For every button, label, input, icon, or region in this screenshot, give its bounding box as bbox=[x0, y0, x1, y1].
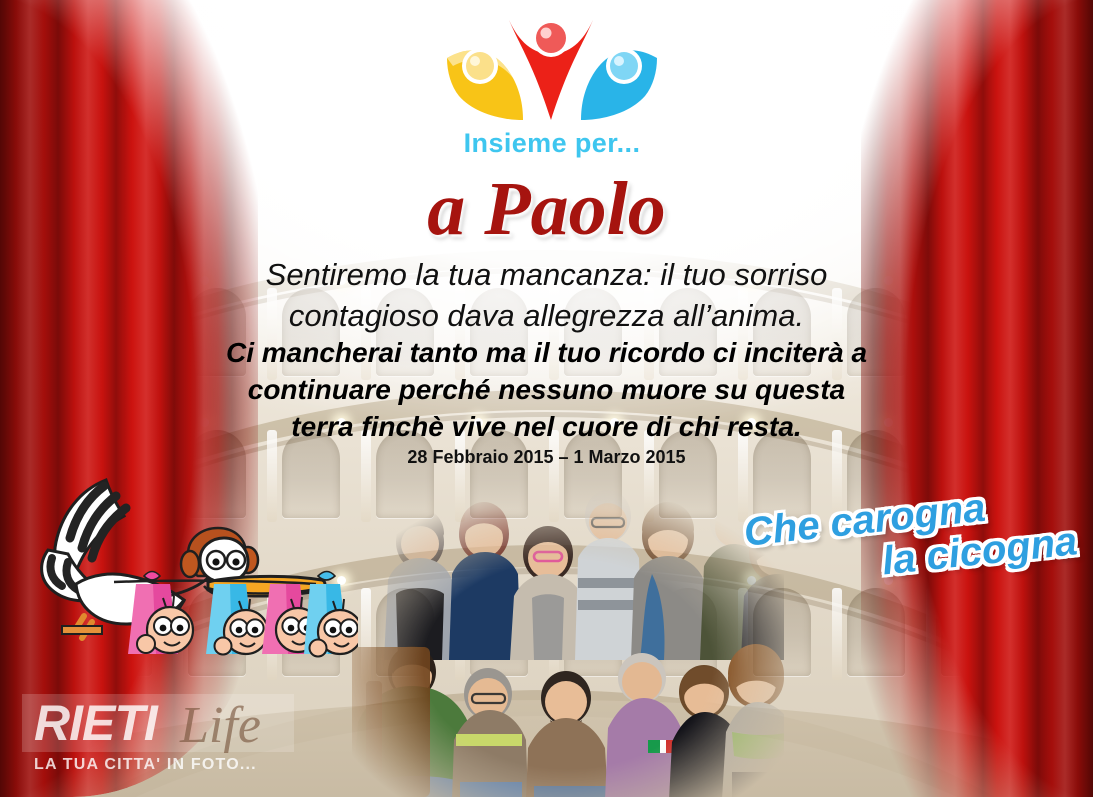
logo-figures-icon bbox=[437, 8, 667, 126]
subtitle-block: Sentiremo la tua mancanza: il tuo sorris… bbox=[0, 255, 1093, 337]
logo-wordmark: Insieme per... bbox=[432, 128, 672, 159]
message-line-3: terra finchè vive nel cuore di chi resta… bbox=[0, 408, 1093, 445]
date-range: 28 Febbraio 2015 – 1 Marzo 2015 bbox=[0, 447, 1093, 468]
poster-canvas: Insieme per... a Paolo Sentiremo la tua … bbox=[0, 0, 1093, 797]
watermark-brand-primary: RIETI bbox=[34, 694, 157, 752]
stork-illustration-icon bbox=[18, 476, 358, 676]
message-line-1: Ci mancherai tanto ma il tuo ricordo ci … bbox=[0, 334, 1093, 371]
figure-center-head bbox=[536, 23, 566, 53]
sling-4-bow bbox=[318, 572, 335, 581]
cap-ear-flap bbox=[181, 551, 199, 577]
figure-left-head bbox=[466, 52, 494, 80]
baby-1-hand bbox=[137, 635, 155, 653]
baby-4-hand bbox=[310, 640, 327, 657]
theatre-arch bbox=[941, 588, 999, 676]
theatre-arch bbox=[1035, 588, 1093, 676]
baby-2-hand bbox=[215, 638, 232, 655]
stork-feet bbox=[62, 626, 102, 634]
rietilife-watermark: RIETI Life LA TUA CITTA' IN FOTO... bbox=[22, 694, 312, 786]
theatre-arch bbox=[847, 588, 905, 676]
stork-neck bbox=[168, 576, 210, 596]
message-line-2: continuare perché nessuno muore su quest… bbox=[0, 371, 1093, 408]
lamp-icon bbox=[1020, 576, 1029, 585]
subtitle-line-1: Sentiremo la tua mancanza: il tuo sorris… bbox=[0, 255, 1093, 296]
stork-with-babies bbox=[18, 476, 358, 676]
watermark-tagline: LA TUA CITTA' IN FOTO... bbox=[34, 756, 257, 774]
page-title: a Paolo bbox=[0, 171, 1093, 247]
figure-right-head bbox=[610, 52, 638, 80]
group-photo bbox=[352, 482, 784, 797]
insieme-per-logo: Insieme per... bbox=[432, 8, 672, 163]
subtitle-line-2: contagioso dava allegrezza all’anima. bbox=[0, 296, 1093, 337]
watermark-brand-secondary: Life bbox=[180, 696, 261, 755]
message-block: Ci mancherai tanto ma il tuo ricordo ci … bbox=[0, 334, 1093, 446]
chair-leg bbox=[366, 681, 382, 797]
sling-1-bow bbox=[144, 572, 160, 581]
wooden-chair bbox=[352, 647, 430, 797]
